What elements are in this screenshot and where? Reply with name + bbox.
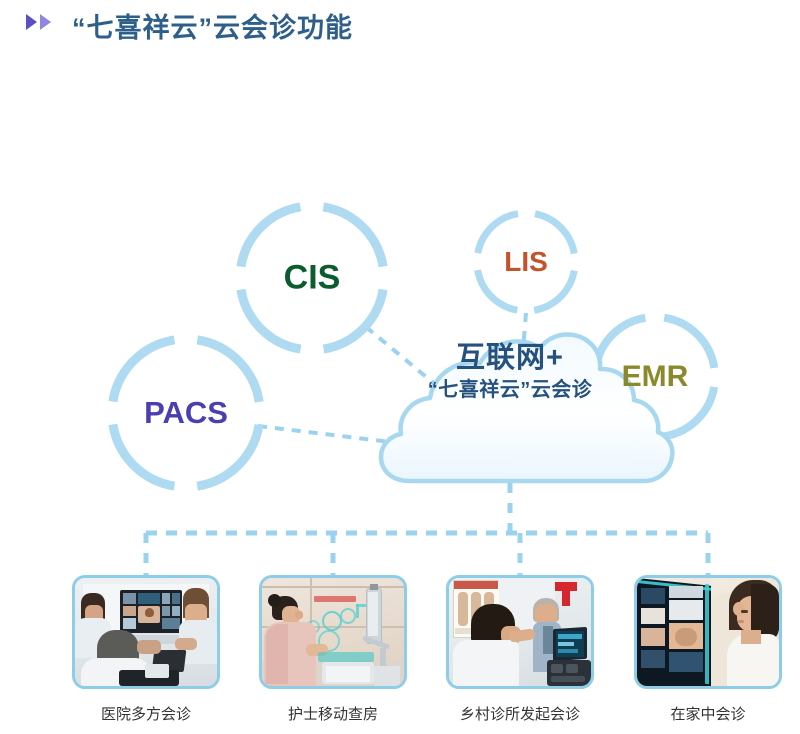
scenario-photo-hospital-multiparty[interactable] — [72, 575, 220, 689]
node-label-emr: EMR — [622, 360, 689, 394]
photo-content — [637, 578, 779, 686]
scenario-caption-nurse-mobile-rounds: 护士移动查房 — [233, 703, 433, 724]
title-arrow-marker — [26, 14, 51, 30]
scenario-photo-at-home[interactable] — [634, 575, 782, 689]
cloud-hub-text: 互联网+ “七喜祥云”云会诊 — [428, 343, 593, 403]
photo-content — [75, 578, 217, 686]
cloud-secondary-text: “七喜祥云”云会诊 — [428, 378, 593, 403]
triangle-right-icon — [26, 14, 37, 30]
node-label-cis: CIS — [284, 259, 341, 298]
connector-pacs-to-cloud — [258, 426, 432, 447]
page-title: “七喜祥云”云会诊功能 — [72, 6, 353, 45]
photo-content — [449, 578, 591, 686]
cloud-primary-text: 互联网+ — [428, 343, 593, 375]
cloud-consultation-diagram: CIS LIS EMR PACS 互联网+ “七喜祥云”云会诊 — [0, 55, 800, 734]
scenario-caption-village-clinic: 乡村诊所发起会诊 — [420, 703, 620, 724]
scenario-photo-village-clinic[interactable] — [446, 575, 594, 689]
page-header: “七喜祥云”云会诊功能 — [0, 0, 800, 55]
node-label-pacs: PACS — [144, 395, 228, 431]
photo-content — [262, 578, 404, 686]
scenario-caption-at-home: 在家中会诊 — [608, 703, 800, 724]
triangle-right-icon — [40, 14, 51, 30]
node-label-lis: LIS — [504, 246, 548, 278]
scenario-photo-nurse-mobile-rounds[interactable] — [259, 575, 407, 689]
scenario-caption-hospital-multiparty: 医院多方会诊 — [46, 703, 246, 724]
